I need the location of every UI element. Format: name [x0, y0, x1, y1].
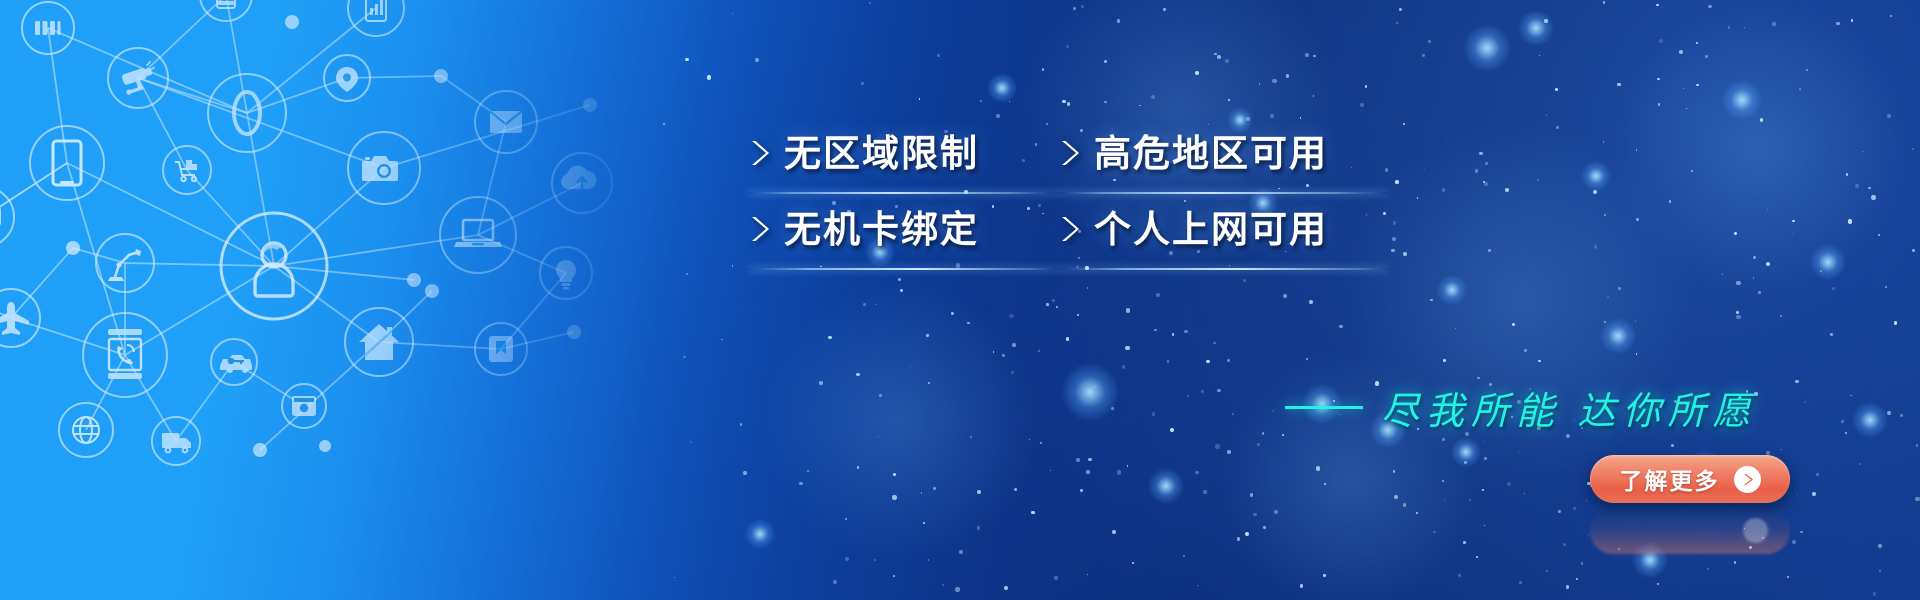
- node-browser-window-icon: [282, 384, 326, 428]
- feature-label: 高危地区可用: [1094, 135, 1328, 172]
- node-chart-device-icon: [348, 0, 404, 36]
- chevron-right-icon: [1058, 212, 1080, 246]
- feature-underline: [1058, 268, 1388, 270]
- chevron-right-icon: [748, 136, 770, 170]
- node-cloud-upload-icon: [552, 153, 612, 213]
- feature-item-3[interactable]: 个人上网可用: [1058, 194, 1388, 270]
- node-photo-camera-icon: [348, 132, 420, 204]
- node-lightbulb-icon: [540, 247, 592, 299]
- tagline-dash: [1285, 406, 1363, 409]
- node-house-icon: [345, 308, 413, 376]
- feature-underline: [748, 268, 1058, 270]
- node-truck-icon: [152, 417, 200, 465]
- feature-item-0[interactable]: 无区域限制: [748, 118, 1058, 194]
- node-tablet-chip-icon: [200, 0, 252, 21]
- node-shopping-cart-icon: [163, 146, 211, 194]
- feature-label: 无区域限制: [784, 135, 979, 172]
- feature-item-2[interactable]: 无机卡绑定: [748, 194, 1058, 270]
- feature-label: 无机卡绑定: [784, 211, 979, 248]
- node-mail-icon: [475, 91, 537, 153]
- tagline: 尽我所能 达你所愿: [1285, 380, 1758, 435]
- iot-network-diagram: [0, 0, 670, 600]
- cta-reflection: [1590, 508, 1790, 554]
- chevron-right-icon: [748, 212, 770, 246]
- node-car-key-icon: [211, 339, 257, 385]
- learn-more-button[interactable]: 了解更多: [1590, 455, 1790, 503]
- chevron-right-icon: [1058, 136, 1080, 170]
- cta-reflection-arrow: [1743, 518, 1768, 543]
- feature-item-1[interactable]: 高危地区可用: [1058, 118, 1388, 194]
- node-chat-bubble-icon: [0, 187, 14, 247]
- node-airplane-icon: [0, 289, 40, 347]
- node-bookmark-icon: [475, 323, 527, 375]
- arrow-right-circle-icon: [1734, 466, 1761, 493]
- cta-container: 了解更多: [1590, 455, 1890, 575]
- learn-more-label: 了解更多: [1620, 462, 1720, 496]
- node-cctv-camera-icon: [108, 48, 168, 108]
- tagline-text: 尽我所能 达你所愿: [1381, 380, 1758, 435]
- feature-label: 个人上网可用: [1094, 211, 1328, 248]
- feature-list: 无区域限制 高危地区可用 无机卡绑定: [748, 118, 1388, 270]
- promo-banner: 无区域限制 高危地区可用 无机卡绑定: [0, 0, 1920, 600]
